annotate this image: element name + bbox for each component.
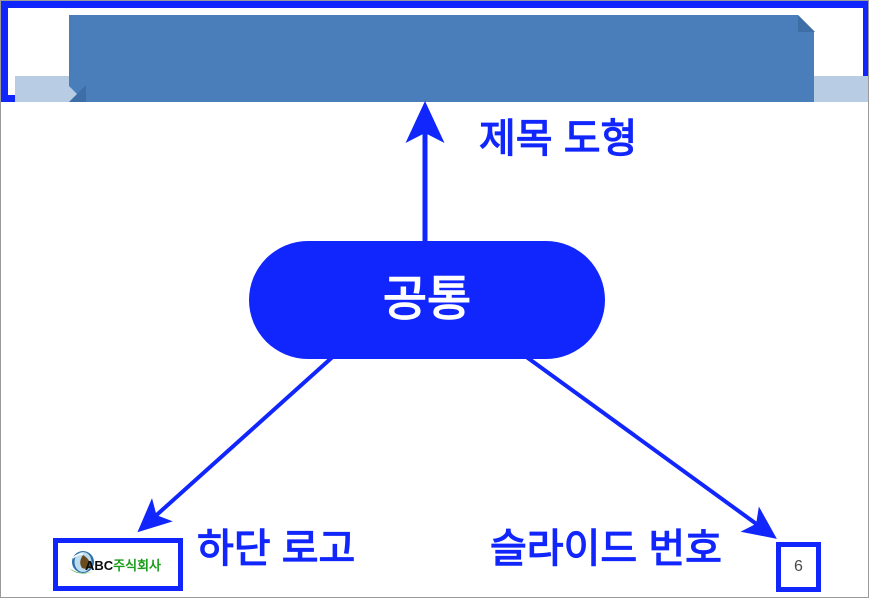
label-bottom-logo: 하단 로고 [197, 524, 355, 574]
label-slide-number: 슬라이드 번호 [490, 524, 722, 574]
arrow-to-slide-number [521, 353, 773, 536]
slide-number-value: 6 [794, 559, 803, 575]
logo-text: ABC주식회사 [85, 559, 161, 572]
logo-abc-text: ABC [85, 558, 113, 573]
central-shape-label: 공통 [383, 276, 471, 324]
arrow-to-bottom-logo [141, 353, 337, 529]
bottom-logo-placeholder[interactable]: ABC주식회사 [53, 538, 183, 591]
label-title-shape: 제목 도형 [479, 114, 637, 164]
header-bevel-top-right [798, 15, 815, 32]
central-common-shape[interactable]: 공통 [249, 241, 605, 359]
header-main-bar [69, 15, 814, 102]
slide-canvas: 제목 도형 하단 로고 슬라이드 번호 공통 ABC주식회사 6 [0, 0, 869, 598]
logo-inner: ABC주식회사 [63, 548, 173, 582]
slide-number-placeholder[interactable]: 6 [776, 542, 821, 592]
title-placeholder-frame[interactable] [1, 1, 869, 102]
logo-company-text: 주식회사 [113, 558, 161, 573]
